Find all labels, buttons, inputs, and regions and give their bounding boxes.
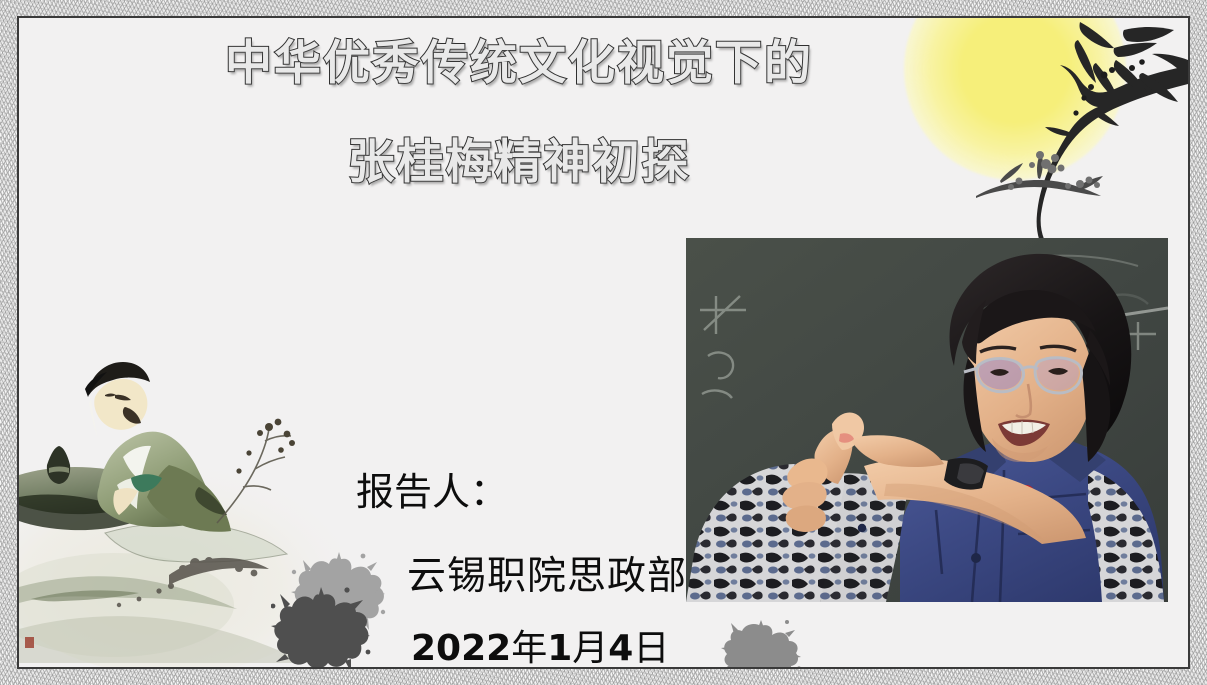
zhang-guimei-portrait-image xyxy=(686,238,1168,602)
date-month: 1 xyxy=(547,628,572,667)
title-line-2: 张桂梅精神初探 xyxy=(19,139,1019,186)
ink-splatter-mid-icon xyxy=(721,620,801,667)
title-line-1: 中华优秀传统文化视觉下的 xyxy=(19,40,1019,87)
slide-canvas: 中华优秀传统文化视觉下的 张桂梅精神初探 报告人： 云锡职院思政部 2022年1… xyxy=(19,18,1188,667)
date-year-unit: 年 xyxy=(511,628,547,667)
organization-label: 云锡职院思政部 xyxy=(407,545,687,601)
reporter-label: 报告人： xyxy=(356,461,508,516)
date-day: 4 xyxy=(608,628,633,667)
slide-title: 中华优秀传统文化视觉下的 张桂梅精神初探 xyxy=(19,40,1019,186)
date-month-unit: 月 xyxy=(572,628,608,667)
date-day-unit: 日 xyxy=(633,628,669,667)
presentation-slide: 中华优秀传统文化视觉下的 张桂梅精神初探 报告人： 云锡职院思政部 2022年1… xyxy=(0,0,1207,685)
zhang-guimei-photo xyxy=(686,238,1168,602)
ink-splatter-dark-icon xyxy=(271,586,371,667)
date-year: 2022 xyxy=(411,628,511,667)
presentation-date: 2022年1月4日 xyxy=(411,619,669,667)
